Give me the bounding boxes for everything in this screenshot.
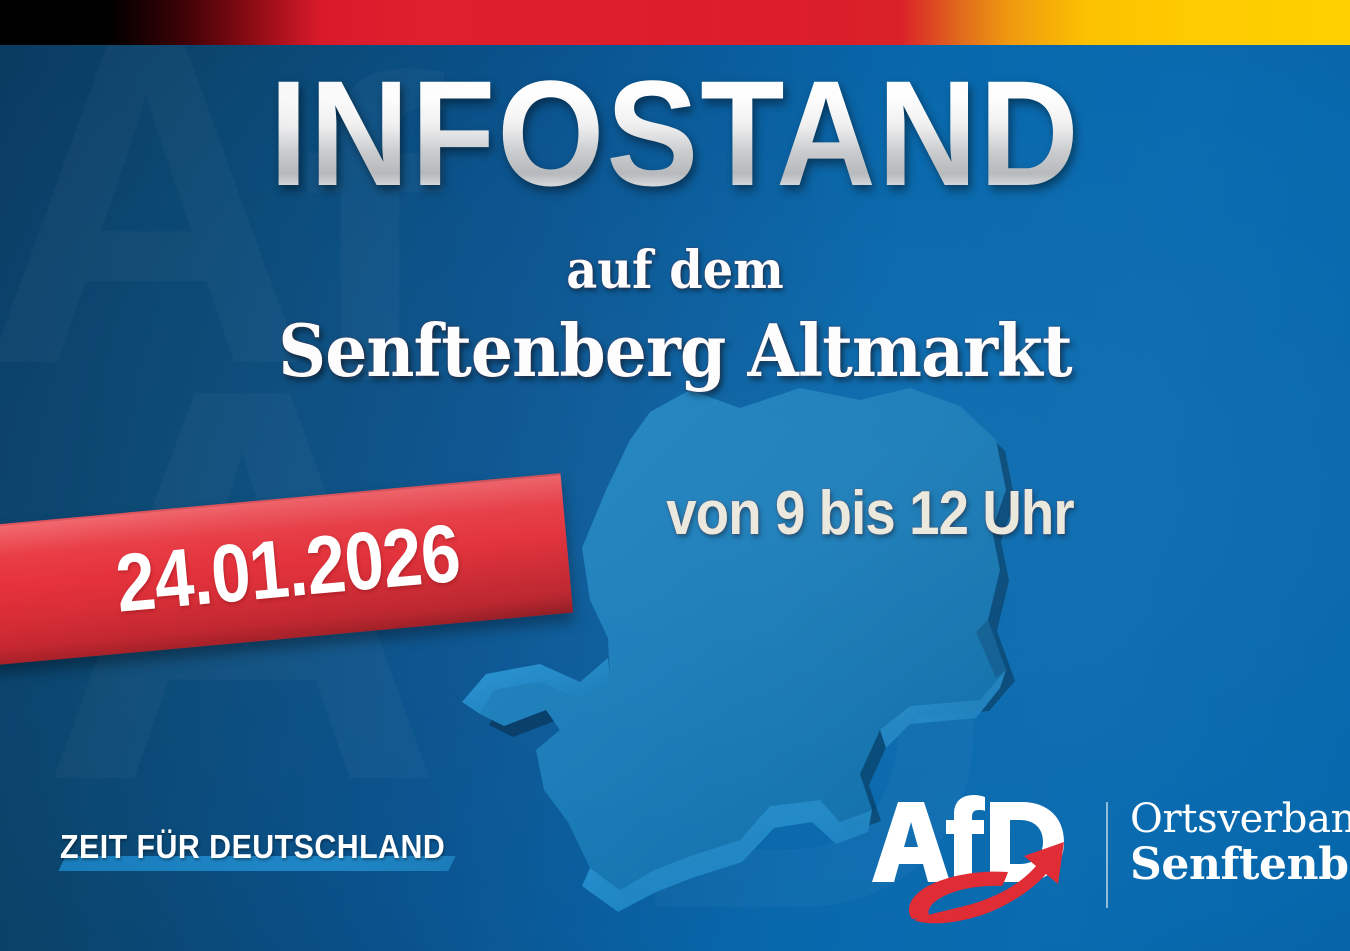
slogan-text: ZEIT FÜR DEUTSCHLAND — [60, 828, 445, 866]
logo-divider — [1106, 802, 1108, 908]
german-flag-bar — [0, 0, 1350, 45]
org-names: Ortsverband Senftenberg — [1130, 798, 1350, 889]
event-time: von 9 bis 12 Uhr — [624, 478, 1117, 549]
poster-root: A f A D — [0, 0, 1350, 951]
org-place-label: Senftenberg — [1130, 841, 1350, 889]
afd-wordmark — [868, 790, 1083, 925]
venue-name: Senftenberg Altmarkt — [54, 308, 1296, 393]
subtitle-prefix: auf dem — [54, 240, 1296, 301]
afd-logo: Ortsverband Senftenberg — [868, 790, 1338, 930]
org-type-label: Ortsverband — [1130, 798, 1350, 841]
page-title: INFOSTAND — [54, 62, 1296, 205]
slogan: ZEIT FÜR DEUTSCHLAND — [60, 828, 479, 874]
